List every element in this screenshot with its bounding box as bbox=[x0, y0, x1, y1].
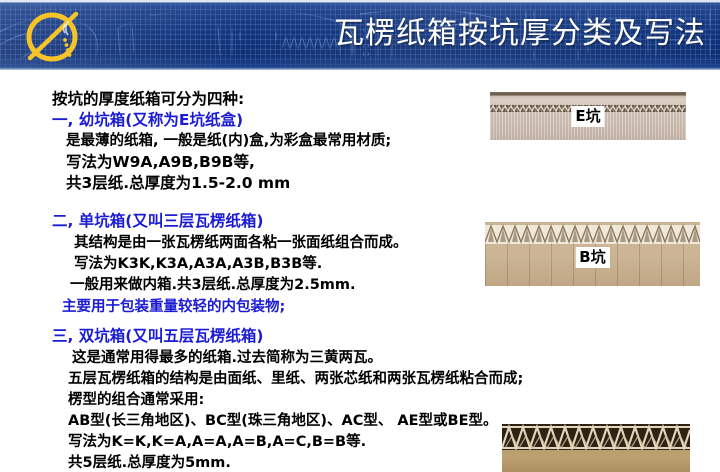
section-1-line-2: 写法为W9A,A9B,B9B等, bbox=[66, 150, 255, 172]
intro-line: 按坑的厚度纸箱可分为四种: bbox=[52, 87, 244, 109]
slide-body: 按坑的厚度纸箱可分为四种: 一, 幼坑箱(又称为E坑纸盒) 是最薄的纸箱, 一般… bbox=[0, 70, 720, 472]
section-1-line-3: 共3层纸.总厚度为1.5-2.0 mm bbox=[66, 171, 290, 193]
section-3-heading: 三, 双坑箱(又叫五层瓦楞纸箱) bbox=[52, 324, 263, 346]
section-2-note: 主要用于包装重量较轻的内包装物; bbox=[62, 295, 285, 316]
slide: 瓦楞纸箱按坑厚分类及写法 E坑 bbox=[0, 0, 720, 472]
page-title: 瓦楞纸箱按坑厚分类及写法 bbox=[334, 14, 706, 54]
section-2-line-1: 其结构是由一张瓦楞纸两面各粘一张面纸组合而成。 bbox=[74, 231, 408, 252]
title-banner: 瓦楞纸箱按坑厚分类及写法 bbox=[0, 0, 720, 70]
section-3-line-3: 楞型的组合通常采用: bbox=[68, 388, 204, 409]
phi-slash-logo bbox=[18, 8, 104, 64]
section-3-line-2: 五层瓦楞纸箱的结构是由面纸、里纸、两张芯纸和两张瓦楞纸粘合而成; bbox=[68, 367, 523, 388]
section-1-heading: 一, 幼坑箱(又称为E坑纸盒) bbox=[52, 108, 243, 130]
section-3-line-1: 这是通常用得最多的纸箱.过去简称为三黄两瓦。 bbox=[72, 346, 382, 367]
section-3-line-6: 共5层纸.总厚度为5mm. bbox=[68, 451, 231, 472]
section-3-line-5: 写法为K=K,K=A,A=A,A=B,A=C,B=B等. bbox=[68, 430, 366, 451]
section-2-line-3: 一般用来做内箱.共3层纸.总厚度为2.5mm. bbox=[70, 273, 356, 294]
section-2-line-2: 写法为K3K,K3A,A3A,A3B,B3B等. bbox=[74, 252, 322, 273]
section-3-line-4: AB型(长三角地区)、BC型(珠三角地区)、AC型、 AE型或BE型。 bbox=[68, 409, 497, 430]
section-1-line-1: 是最薄的纸箱, 一般是纸(内)盒,为彩盒最常用材质; bbox=[66, 129, 391, 150]
section-2-heading: 二, 单坑箱(又叫三层瓦楞纸箱) bbox=[52, 209, 263, 231]
